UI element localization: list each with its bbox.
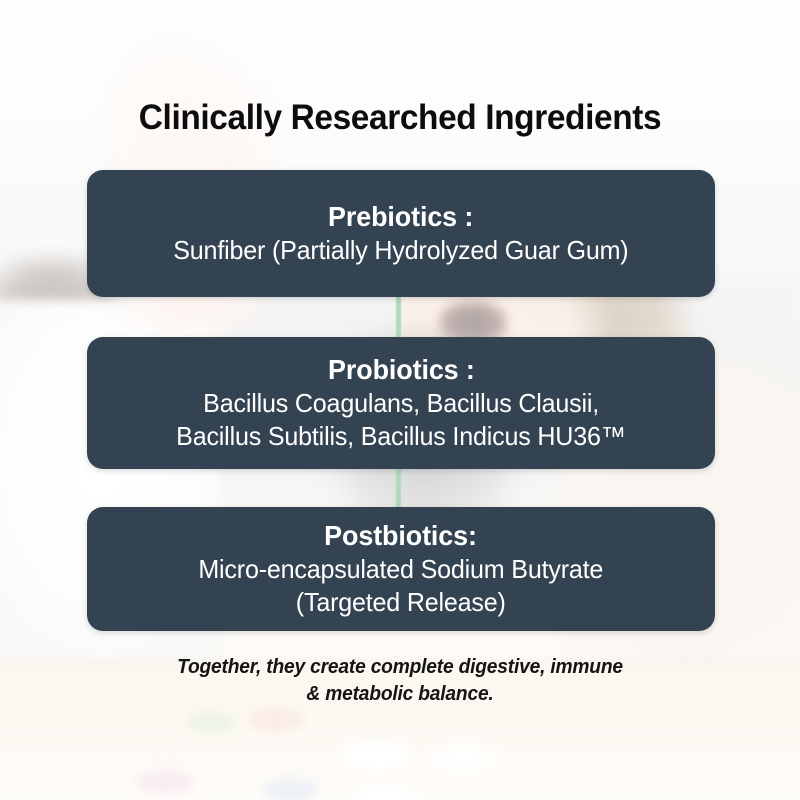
card-heading-probiotics: Probiotics :	[328, 353, 475, 387]
card-heading-postbiotics: Postbiotics:	[325, 519, 478, 553]
ingredient-card-postbiotics[interactable]: Postbiotics: Micro-encapsulated Sodium B…	[87, 507, 715, 631]
footer-note-line-1: Together, they create complete digestive…	[16, 654, 784, 681]
footer-note: Together, they create complete digestive…	[16, 654, 784, 708]
ingredient-card-probiotics[interactable]: Probiotics : Bacillus Coagulans, Bacillu…	[87, 337, 715, 469]
card-heading-prebiotics: Prebiotics :	[328, 200, 473, 234]
ingredient-card-list: Prebiotics : Sunfiber (Partially Hydroly…	[87, 170, 715, 631]
card-body-postbiotics-line-2: (Targeted Release)	[296, 586, 506, 619]
card-body-probiotics-line-2: Bacillus Subtilis, Bacillus Indicus HU36…	[176, 420, 625, 453]
ingredients-infographic: Clinically Researched Ingredients Prebio…	[0, 0, 800, 800]
page-title: Clinically Researched Ingredients	[18, 96, 782, 140]
footer-note-line-2: & metabolic balance.	[16, 681, 784, 708]
card-body-probiotics-line-1: Bacillus Coagulans, Bacillus Clausii,	[203, 387, 599, 420]
content-layer: Clinically Researched Ingredients Prebio…	[0, 0, 800, 800]
card-body-postbiotics-line-1: Micro-encapsulated Sodium Butyrate	[199, 553, 604, 586]
card-body-prebiotics-line-1: Sunfiber (Partially Hydrolyzed Guar Gum)	[173, 234, 628, 267]
ingredient-card-prebiotics[interactable]: Prebiotics : Sunfiber (Partially Hydroly…	[87, 170, 715, 297]
